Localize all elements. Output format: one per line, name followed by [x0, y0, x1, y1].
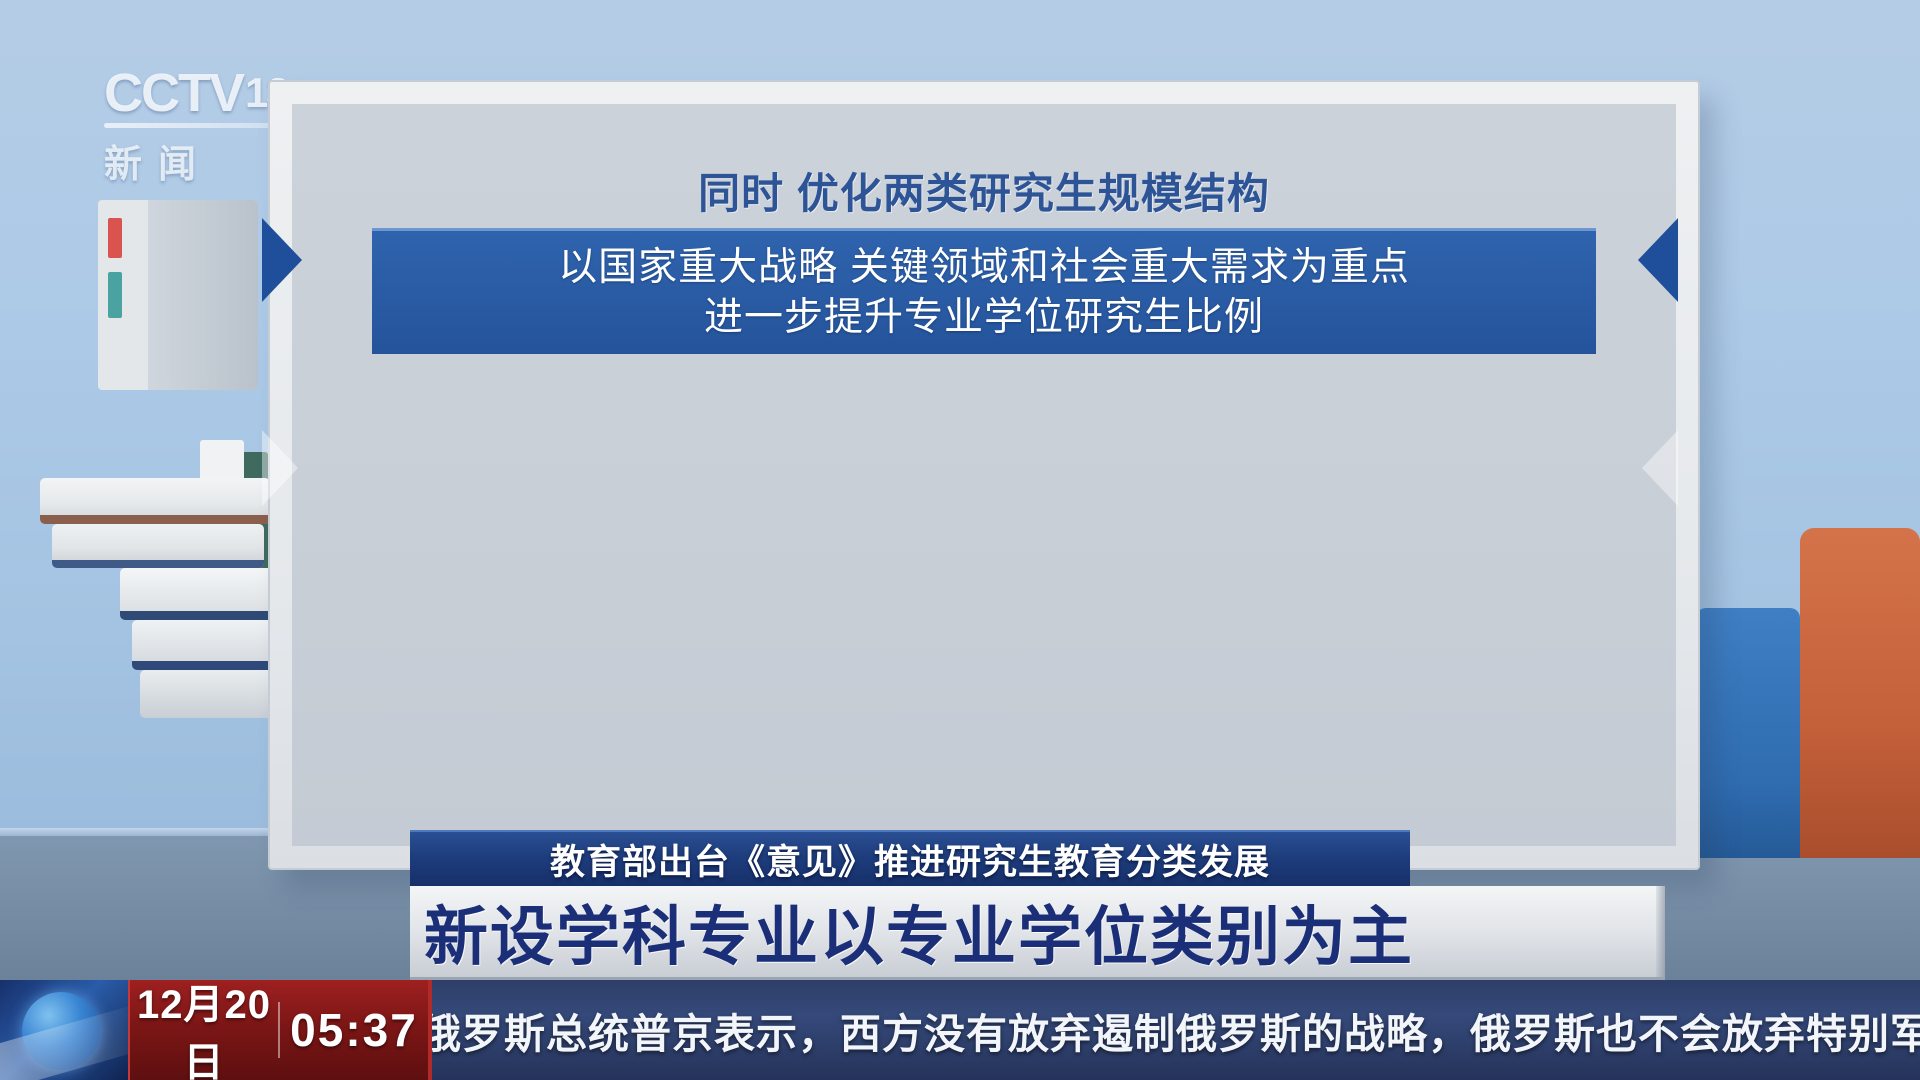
lower-third-headline-banner: 新设学科专业以专业学位类别为主 [410, 886, 1665, 980]
news-ticker-text: 俄罗斯总统普京表示，西方没有放弃遏制俄罗斯的战略，俄罗斯也不会放弃特别军事行动的 [428, 1000, 1920, 1060]
decor-right-red-book-icon [1800, 528, 1920, 858]
decor-book-stack-item [40, 478, 270, 524]
slide-next-arrow-ghost-icon[interactable] [262, 430, 298, 506]
presentation-screen: 同时 优化两类研究生规模结构 以国家重大战略 关键领域和社会重大需求为重点 进一… [268, 80, 1700, 870]
decor-right-blue-book-icon [1696, 608, 1800, 858]
decor-book-spine-icon [148, 200, 258, 390]
slide-prev-arrow-ghost-icon[interactable] [1642, 430, 1678, 506]
slide-title: 同时 优化两类研究生规模结构 [292, 160, 1676, 221]
presentation-slide-surface: 同时 优化两类研究生规模结构 以国家重大战略 关键领域和社会重大需求为重点 进一… [292, 104, 1676, 846]
news-ticker: 俄罗斯总统普京表示，西方没有放弃遏制俄罗斯的战略，俄罗斯也不会放弃特别军事行动的 [428, 980, 1920, 1080]
lower-third-subtitle-text: 教育部出台《意见》推进研究生教育分类发展 [550, 834, 1270, 885]
channel-logo-cctv-text: CCTV [104, 63, 243, 123]
slide-highlight-line-2: 进一步提升专业学位研究生比例 [704, 294, 1264, 342]
bottom-bar-globe-logo [0, 980, 128, 1080]
decor-book-stack-item [120, 568, 290, 620]
slide-next-arrow-icon[interactable] [262, 218, 302, 302]
broadcast-time: 05:37 [280, 1003, 428, 1057]
slide-highlight-line-1: 以国家重大战略 关键领域和社会重大需求为重点 [558, 244, 1410, 292]
decor-book-stack-item [52, 524, 264, 568]
slide-prev-arrow-icon[interactable] [1638, 218, 1678, 302]
decor-book-stack-item [132, 620, 290, 670]
lower-third-subtitle-banner: 教育部出台《意见》推进研究生教育分类发展 [410, 830, 1410, 886]
datetime-panel: 12月20日 05:37 [128, 980, 428, 1080]
lower-third-headline-text: 新设学科专业以专业学位类别为主 [410, 886, 1414, 978]
broadcast-date: 12月20日 [130, 972, 278, 1080]
bottom-bar: 12月20日 05:37 俄罗斯总统普京表示，西方没有放弃遏制俄罗斯的战略，俄罗… [0, 980, 1920, 1080]
broadcast-stage: CCTV13 新闻 同时 优化两类研究生规模结构 以国家重大战略 关键领域和社会… [0, 0, 1920, 1080]
slide-highlight-box: 以国家重大战略 关键领域和社会重大需求为重点 进一步提升专业学位研究生比例 [372, 228, 1596, 354]
